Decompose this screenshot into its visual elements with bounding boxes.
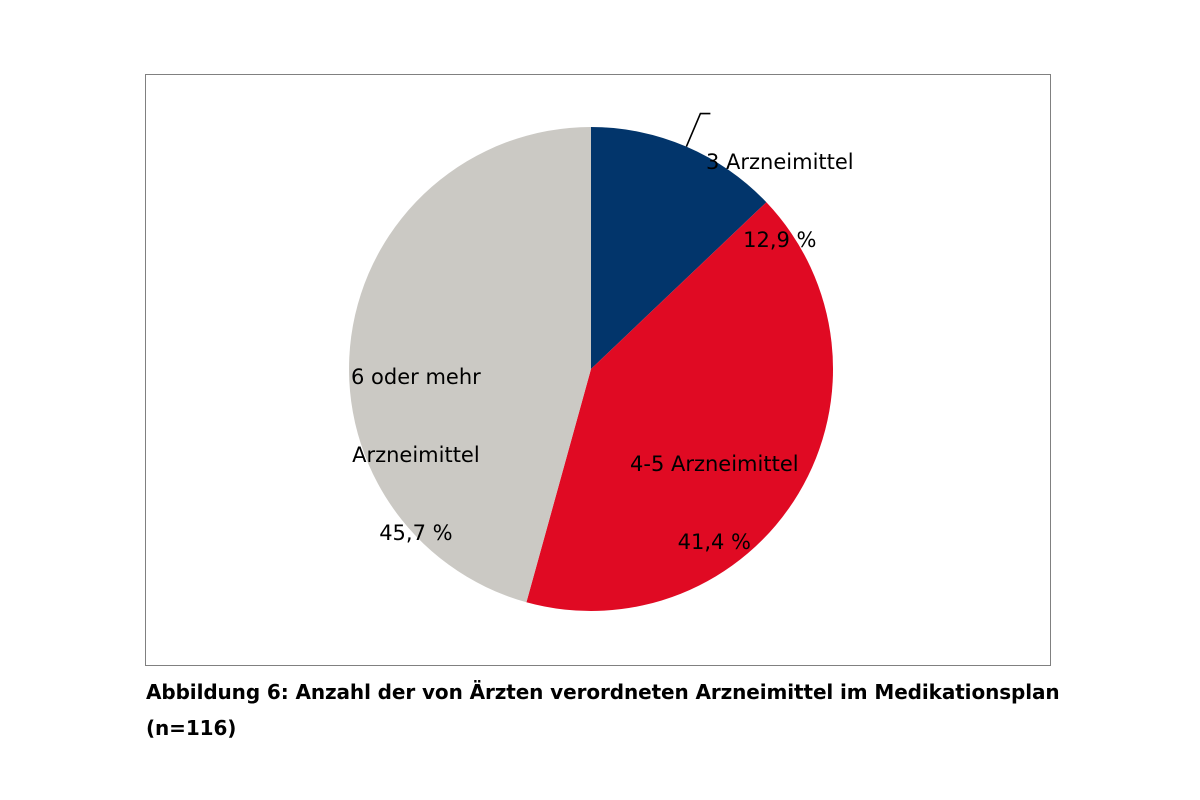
pie-label-4-5-arzneimittel-category: 4-5 Arzneimittel xyxy=(630,451,799,477)
pie-label-6-oder-mehr-arzneimittel: 6 oder mehr Arzneimittel 45,7 % xyxy=(351,312,481,598)
figure-container: 3 Arzneimittel 12,9 % 6 oder mehr Arznei… xyxy=(0,0,1200,800)
figure-caption: Abbildung 6: Anzahl der von Ärzten veror… xyxy=(146,674,1066,746)
pie-label-3-arzneimittel: 3 Arzneimittel 12,9 % xyxy=(706,97,854,305)
pie-label-6-oder-mehr-line2: Arzneimittel xyxy=(351,442,481,468)
chart-frame: 3 Arzneimittel 12,9 % 6 oder mehr Arznei… xyxy=(145,74,1051,666)
pie-label-6-oder-mehr-line1: 6 oder mehr xyxy=(351,364,481,390)
pie-label-3-arzneimittel-value: 12,9 % xyxy=(706,227,854,253)
pie-label-4-5-arzneimittel: 4-5 Arzneimittel 41,4 % xyxy=(630,399,799,607)
pie-label-4-5-arzneimittel-value: 41,4 % xyxy=(630,529,799,555)
pie-chart xyxy=(146,75,1052,667)
pie-label-6-oder-mehr-value: 45,7 % xyxy=(351,520,481,546)
pie-label-3-arzneimittel-category: 3 Arzneimittel xyxy=(706,149,854,175)
